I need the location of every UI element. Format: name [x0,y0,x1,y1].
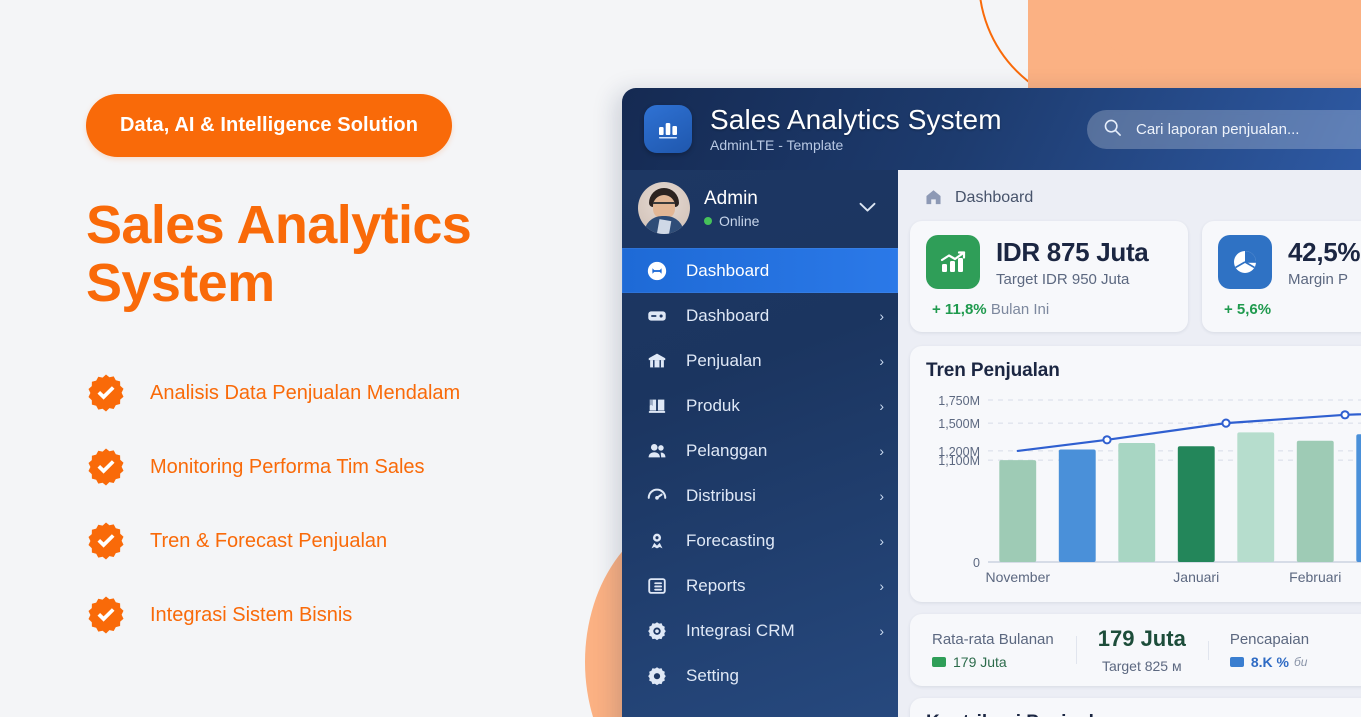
legend-chip-green-icon [932,657,946,667]
kpi-card-row: IDR 875 Juta Target IDR 950 Juta + 11,8%… [910,221,1361,332]
page-root: Data, AI & Intelligence Solution Sales A… [0,0,1361,717]
user-profile[interactable]: Admin Online [622,170,898,246]
sidebar-item-pelanggan[interactable]: Pelanggan › [622,428,898,473]
tagline-text: Data, AI & Intelligence Solution [120,114,418,137]
svg-text:November: November [985,569,1050,585]
sidebar-item-integrasi-crm[interactable]: Integrasi CRM › [622,608,898,653]
gear-icon [644,665,670,687]
kpi-delta-note: Bulan Ini [991,301,1049,318]
sales-trend-chart-card: Tren Penjualan 1,750M1,500M1,200M1,100M0… [910,346,1361,602]
list-item: Monitoring Performa Tim Sales [86,430,606,504]
chart-growth-icon [926,235,980,289]
sidebar-item-label: Forecasting [686,531,879,551]
mini-stat-value-row: 8.K % би [1230,654,1309,670]
kpi-delta: + 5,6% [1224,301,1361,318]
decorative-peach-shape-top [1028,0,1361,90]
sidebar-item-label: Penjualan [686,351,879,371]
page-title: Sales Analytics System [86,196,566,313]
profile-status-label: Online [719,213,759,229]
chevron-right-icon: › [879,398,884,414]
app-title: Sales Analytics System [710,105,1002,134]
chart-plot-area: 1,750M1,500M1,200M1,100M0NovemberJanuari… [926,390,1361,596]
trend-chart-svg: 1,750M1,500M1,200M1,100M0NovemberJanuari… [926,390,1361,590]
sidebar-item-produk[interactable]: Produk › [622,383,898,428]
mini-stat-total: 179 Juta Target 825 м [1076,626,1208,674]
legend-chip-blue-icon [1230,657,1244,667]
sidebar-item-dashboard[interactable]: Dashboard › [622,293,898,338]
kpi-value: 42,5% [1288,237,1360,268]
svg-text:1,100M: 1,100M [938,454,980,468]
chevron-right-icon: › [879,533,884,549]
svg-text:Januari: Januari [1173,569,1219,585]
kpi-card-margin[interactable]: 42,5% Margin P + 5,6% [1202,221,1361,332]
mini-stat-value: 179 Juta [953,654,1007,670]
svg-text:1,750M: 1,750M [938,394,980,408]
marketing-panel: Data, AI & Intelligence Solution Sales A… [0,0,620,717]
sidebar-item-label: Distribusi [686,486,879,506]
search-placeholder: Cari laporan penjualan... [1136,121,1299,138]
profile-status: Online [704,213,859,229]
sidebar-item-reports[interactable]: Reports › [622,563,898,608]
kpi-subtitle: Margin P [1288,271,1360,288]
app-header: Sales Analytics System AdminLTE - Templa… [622,88,1361,170]
main-content: Dashboard [898,170,1361,717]
sidebar: Admin Online Da [622,170,898,717]
kpi-value: IDR 875 Juta [996,237,1148,268]
check-badge-icon [86,447,126,487]
contribution-card: Kontribusi Penjualan [910,698,1361,717]
mini-stat-achievement: Pencapaian 8.K % би [1208,631,1331,670]
store-icon [644,350,670,372]
mini-stat-row: Rata-rata Bulanan 179 Juta 179 Juta Targ… [910,614,1361,686]
sidebar-item-setting[interactable]: Setting [622,653,898,698]
users-icon [644,440,670,462]
list-box-icon [644,575,670,597]
kpi-delta-value: + 5,6% [1224,301,1271,318]
mini-stat-target: Target 825 м [1098,658,1186,674]
mini-stat-note: би [1294,655,1307,669]
feature-label: Analisis Data Penjualan Mendalam [150,381,460,405]
book-icon [644,395,670,417]
chevron-right-icon: › [879,623,884,639]
sidebar-item-dashboard-active[interactable]: Dashboard [622,248,898,293]
breadcrumb: Dashboard [924,188,1361,207]
app-subtitle: AdminLTE - Template [710,137,1002,153]
kpi-subtitle: Target IDR 950 Juta [996,271,1148,288]
sidebar-item-penjualan[interactable]: Penjualan › [622,338,898,383]
chevron-right-icon: › [879,488,884,504]
gauge-icon [644,485,670,507]
brand-block: Sales Analytics System AdminLTE - Templa… [710,105,1002,153]
bar-chart-logo-icon [644,105,692,153]
mini-stat-label: Rata-rata Bulanan [932,631,1054,648]
search-icon [1103,118,1122,142]
home-icon [924,188,943,207]
sidebar-item-label: Integrasi CRM [686,621,879,641]
feature-label: Monitoring Performa Tim Sales [150,455,425,479]
dashboard-mockup: Sales Analytics System AdminLTE - Templa… [622,88,1361,717]
check-badge-icon [86,521,126,561]
sidebar-item-label: Dashboard [686,261,884,281]
check-badge-icon [86,373,126,413]
search-input[interactable]: Cari laporan penjualan... [1087,110,1361,149]
kpi-card-revenue[interactable]: IDR 875 Juta Target IDR 950 Juta + 11,8%… [910,221,1188,332]
sidebar-item-distribusi[interactable]: Distribusi › [622,473,898,518]
chevron-right-icon: › [879,308,884,324]
list-item: Analisis Data Penjualan Mendalam [86,356,606,430]
mini-stat-value: 8.K % [1251,654,1289,670]
avatar [638,182,690,234]
sidebar-item-label: Setting [686,666,884,686]
sidebar-item-label: Reports [686,576,879,596]
sidebar-item-label: Dashboard [686,306,879,326]
sidebar-item-label: Produk [686,396,879,416]
sidebar-item-label: Pelanggan [686,441,879,461]
gear-dot-icon [644,620,670,642]
mini-stat-value-row: 179 Juta [932,654,1054,670]
kpi-delta: + 11,8% Bulan Ini [932,301,1172,318]
pie-chart-icon [1218,235,1272,289]
dashboard-compass-icon [644,260,670,282]
tagline-pill: Data, AI & Intelligence Solution [86,94,452,157]
feature-label: Tren & Forecast Penjualan [150,529,387,553]
chart-title: Tren Penjualan [926,360,1361,382]
online-dot-icon [704,217,712,225]
kpi-delta-value: + 11,8% [932,301,987,318]
list-item: Integrasi Sistem Bisnis [86,578,606,652]
feature-label: Integrasi Sistem Bisnis [150,603,352,627]
mini-stat-label: Pencapaian [1230,631,1309,648]
chevron-right-icon: › [879,353,884,369]
svg-text:1,500M: 1,500M [938,417,980,431]
gamepad-icon [644,305,670,327]
check-badge-icon [86,595,126,635]
chevron-down-icon[interactable] [859,198,882,218]
breadcrumb-label: Dashboard [955,189,1033,207]
user-badge-icon [644,530,670,552]
svg-text:0: 0 [973,556,980,570]
chevron-right-icon: › [879,578,884,594]
svg-text:Februari: Februari [1289,569,1341,585]
sidebar-menu: Dashboard Dashboard › Penjualan [622,248,898,698]
profile-name: Admin [704,188,859,210]
mini-stat-average: Rata-rata Bulanan 179 Juta [910,631,1076,670]
contribution-title: Kontribusi Penjualan [926,712,1361,717]
sidebar-item-forecasting[interactable]: Forecasting › [622,518,898,563]
chevron-right-icon: › [879,443,884,459]
feature-list: Analisis Data Penjualan Mendalam Monitor… [86,356,606,652]
list-item: Tren & Forecast Penjualan [86,504,606,578]
mini-stat-big-value: 179 Juta [1098,626,1186,652]
